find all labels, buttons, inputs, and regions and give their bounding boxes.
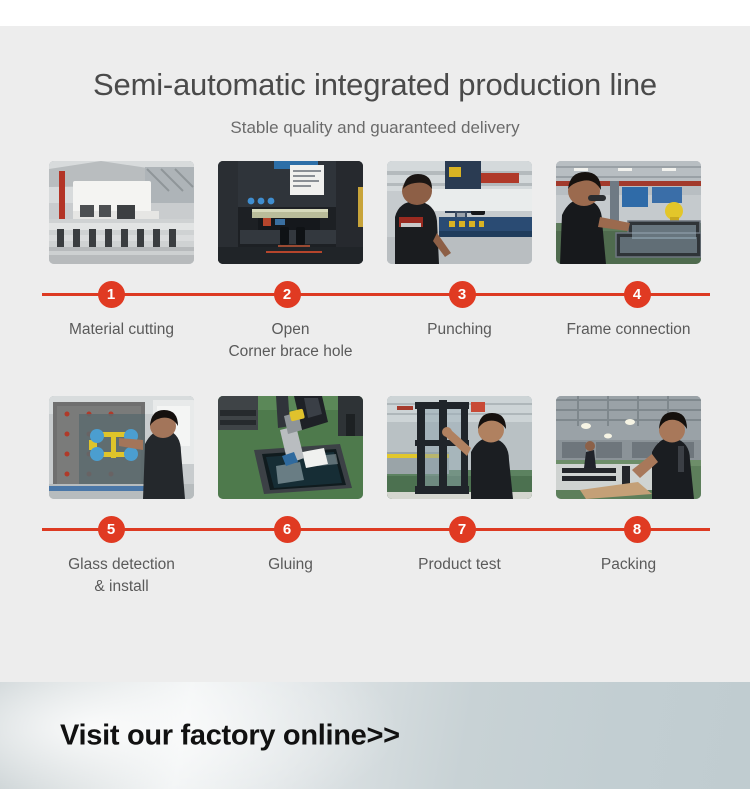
page-title: Semi-automatic integrated production lin… <box>0 66 750 103</box>
connector-line <box>42 293 710 296</box>
header-block: Semi-automatic integrated production lin… <box>0 26 750 138</box>
step-label-5: Glass detection & install <box>49 554 194 599</box>
step-row-1: 1 2 3 4 Material cutting Open Corner bra… <box>0 161 750 364</box>
step-badge-1[interactable]: 1 <box>98 281 125 308</box>
step-label-4: Frame connection <box>556 319 701 364</box>
step-badge-8[interactable]: 8 <box>624 516 651 543</box>
footer-banner: Visit our factory online>> <box>0 682 750 789</box>
step-badge-3[interactable]: 3 <box>449 281 476 308</box>
step-label-1: Material cutting <box>49 319 194 364</box>
step-row-2: 5 6 7 8 Glass detection & install Gluing… <box>0 396 750 599</box>
step-image-3[interactable] <box>387 161 532 264</box>
caption-group-row-2: Glass detection & install Gluing Product… <box>0 554 750 599</box>
step-badge-2[interactable]: 2 <box>274 281 301 308</box>
step-image-2[interactable] <box>218 161 363 264</box>
thumbnail-group-row-2 <box>0 396 750 512</box>
step-connector-row-2: 5 6 7 8 <box>0 512 750 546</box>
step-connector-row-1: 1 2 3 4 <box>0 277 750 311</box>
step-image-4[interactable] <box>556 161 701 264</box>
step-label-7: Product test <box>387 554 532 599</box>
caption-group-row-1: Material cutting Open Corner brace hole … <box>0 319 750 364</box>
step-badge-7[interactable]: 7 <box>449 516 476 543</box>
top-white-strip <box>0 0 750 26</box>
step-label-6: Gluing <box>218 554 363 599</box>
step-image-8[interactable] <box>556 396 701 499</box>
step-label-2: Open Corner brace hole <box>218 319 363 364</box>
visit-factory-link[interactable]: Visit our factory online>> <box>60 719 400 752</box>
step-badge-6[interactable]: 6 <box>274 516 301 543</box>
production-line-infographic: Semi-automatic integrated production lin… <box>0 0 750 789</box>
page-subtitle: Stable quality and guaranteed delivery <box>0 118 750 138</box>
connector-line <box>42 528 710 531</box>
step-image-6[interactable] <box>218 396 363 499</box>
step-image-7[interactable] <box>387 396 532 499</box>
step-badge-4[interactable]: 4 <box>624 281 651 308</box>
step-label-3: Punching <box>387 319 532 364</box>
thumbnail-group-row-1 <box>0 161 750 277</box>
step-badge-5[interactable]: 5 <box>98 516 125 543</box>
step-image-1[interactable] <box>49 161 194 264</box>
step-label-8: Packing <box>556 554 701 599</box>
step-image-5[interactable] <box>49 396 194 499</box>
